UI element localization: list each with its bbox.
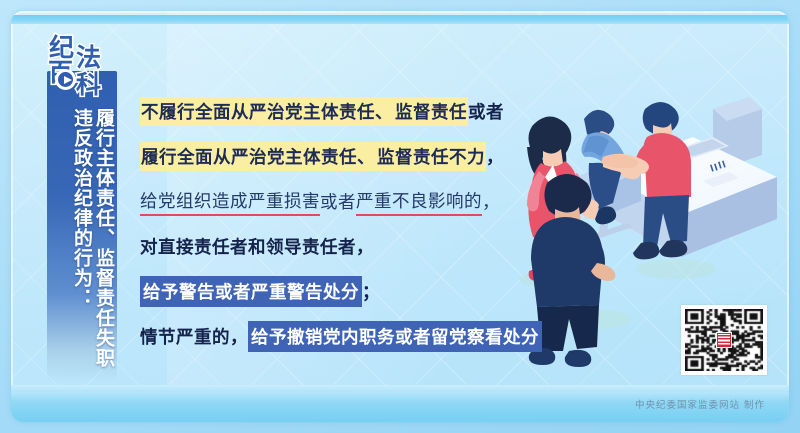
text-segment: 不履行全面从严治党主体责任、 [140,97,394,126]
text-segment: 履行全面从严治党主体责任、 [140,142,376,171]
left-banner-text: 履行主体责任、监督责任失职 违反政治纪律的行为： [47,106,117,381]
text-segment: ； [362,279,380,304]
text-segment: 严重不良影响的 [356,188,482,216]
logo-char-fa: 法 [76,45,101,70]
red-seal-icon [716,332,732,348]
text-segment: ， [482,189,500,214]
banner-column-left: 违反政治纪律的行为： [72,108,91,381]
shadow-red-man [636,259,716,279]
text-segment: 给予撤销党内职务或者留党察看处分 [248,321,542,352]
text-segment: 给党组织造成严重损害 [140,188,320,216]
text-segment: ， [486,144,504,169]
text-segment: 监督责任 [394,97,468,126]
qr-code[interactable] [681,305,767,375]
text-line: 情节严重的，给予撤销党内职务或者留党察看处分 [140,314,610,359]
text-line: 履行全面从严治党主体责任、监督责任不力， [140,134,610,179]
poster-inner-frame: 履行主体责任、监督责任失职 违反政治纪律的行为： 纪 法 百 科 不履行全面从严… [11,11,789,422]
brand-logo: 纪 法 百 科 [45,33,125,105]
text-segment: 情节严重的， [140,324,248,349]
top-accent-band [11,15,789,24]
poster-root: 履行主体责任、监督责任失职 违反政治纪律的行为： 纪 法 百 科 不履行全面从严… [0,0,800,433]
text-segment: 对直接责任者和领导责任者， [140,234,374,259]
text-segment: 或者 [320,189,356,214]
main-text-block: 不履行全面从严治党主体责任、监督责任或者履行全面从严治党主体责任、监督责任不力，… [140,89,610,359]
bottom-accent-band-upper [11,385,789,392]
play-icon [55,69,76,90]
text-line: 对直接责任者和领导责任者， [140,224,610,269]
text-line: 给予警告或者严重警告处分； [140,269,610,314]
text-segment: 监督责任不力 [376,142,486,171]
credit-text: 中央纪委国家监委网站 制作 [635,397,765,411]
text-line: 不履行全面从严治党主体责任、监督责任或者 [140,89,610,134]
banner-column-right: 履行主体责任、监督责任失职 [94,108,113,381]
text-segment: 或者 [468,99,504,124]
logo-char-ji: 纪 [49,35,74,60]
text-segment: 给予警告或者严重警告处分 [140,276,362,307]
logo-char-ke: 科 [76,72,101,97]
text-line: 给党组织造成严重损害或者严重不良影响的， [140,179,610,224]
